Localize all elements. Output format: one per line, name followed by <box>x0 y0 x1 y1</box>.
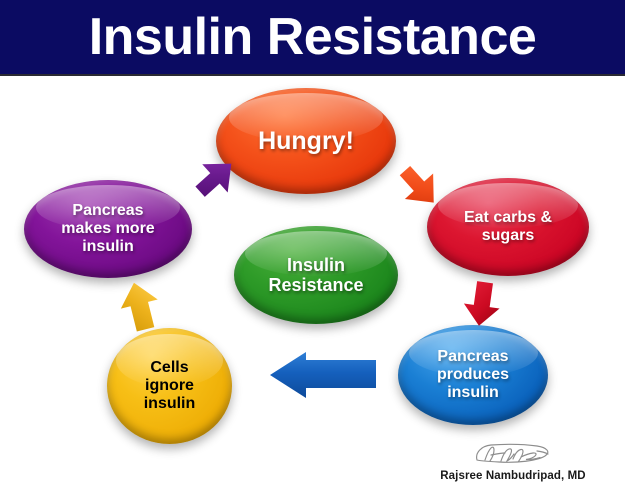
credit-block: Rajsree Nambudripad, MD <box>413 439 613 482</box>
node-hungry-label: Hungry! <box>252 127 360 155</box>
node-cells-ignore-insulin-line2: ignore <box>145 377 194 394</box>
node-eat-carbs-sugars-label: Eat carbs & sugars <box>458 209 558 245</box>
node-pancreas-makes-more-insulin[interactable]: Pancreas makes more insulin <box>24 180 192 278</box>
node-pancreas-produces-insulin-label: Pancreas produces insulin <box>431 348 515 402</box>
credit-author-name: Rajsree Nambudripad, MD <box>413 470 613 482</box>
node-insulin-resistance-label: Insulin Resistance <box>262 255 369 295</box>
node-cells-ignore-insulin-line1: Cells <box>150 359 188 376</box>
node-insulin-resistance-line1: Insulin <box>287 255 345 275</box>
handwritten-signature-icon <box>465 439 561 469</box>
node-insulin-resistance-line2: Resistance <box>268 275 363 295</box>
arrow-purple-up-right <box>176 150 248 212</box>
node-cells-ignore-insulin-label: Cells ignore insulin <box>138 359 202 413</box>
node-pancreas-makes-more-insulin-line1: Pancreas <box>72 202 143 219</box>
node-cells-ignore-insulin-line3: insulin <box>144 395 196 412</box>
node-pancreas-makes-more-insulin-line3: insulin <box>82 238 134 255</box>
node-insulin-resistance[interactable]: Insulin Resistance <box>234 226 398 324</box>
node-pancreas-produces-insulin-line3: insulin <box>447 384 499 401</box>
slide-canvas: Insulin Resistance <box>0 0 625 490</box>
title-banner: Insulin Resistance <box>0 0 625 76</box>
arrow-red-down <box>459 278 505 330</box>
node-pancreas-produces-insulin[interactable]: Pancreas produces insulin <box>398 325 548 425</box>
page-title: Insulin Resistance <box>0 2 625 72</box>
node-pancreas-produces-insulin-line1: Pancreas <box>437 348 508 365</box>
node-pancreas-produces-insulin-line2: produces <box>437 366 509 383</box>
arrow-gold-up <box>114 278 166 336</box>
node-pancreas-makes-more-insulin-line2: makes more <box>61 220 154 237</box>
arrow-orange-down-right <box>381 152 453 216</box>
node-eat-carbs-sugars-line1: Eat carbs & <box>464 209 552 226</box>
node-cells-ignore-insulin[interactable]: Cells ignore insulin <box>107 328 232 444</box>
arrow-blue-left <box>264 352 380 400</box>
node-pancreas-makes-more-insulin-label: Pancreas makes more insulin <box>55 202 160 256</box>
node-eat-carbs-sugars-line2: sugars <box>482 227 534 244</box>
